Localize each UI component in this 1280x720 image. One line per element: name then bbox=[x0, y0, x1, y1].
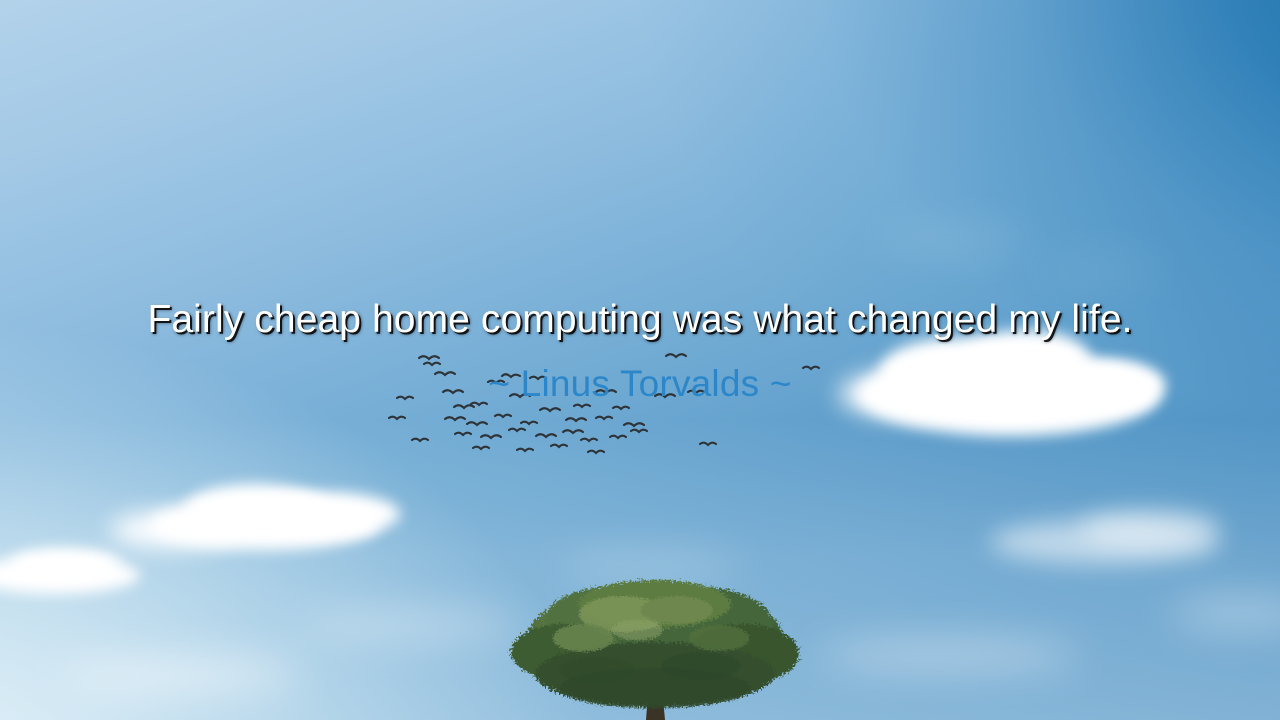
cloud bbox=[560, 556, 740, 578]
cloud bbox=[250, 492, 400, 536]
cloud bbox=[60, 660, 300, 690]
quote-attribution: ~ Linus Torvalds ~ bbox=[0, 362, 1280, 406]
quote-text: Fairly cheap home computing was what cha… bbox=[0, 296, 1280, 344]
oak-tree bbox=[505, 578, 805, 720]
quote-image-scene: Fairly cheap home computing was what cha… bbox=[0, 0, 1280, 720]
cloud bbox=[1040, 262, 1160, 276]
cloud bbox=[300, 612, 520, 638]
quote-block: Fairly cheap home computing was what cha… bbox=[0, 296, 1280, 406]
cloud bbox=[10, 548, 120, 580]
cloud bbox=[110, 512, 240, 548]
cloud bbox=[880, 232, 1030, 248]
cloud bbox=[1080, 510, 1220, 546]
cloud bbox=[820, 640, 1080, 670]
